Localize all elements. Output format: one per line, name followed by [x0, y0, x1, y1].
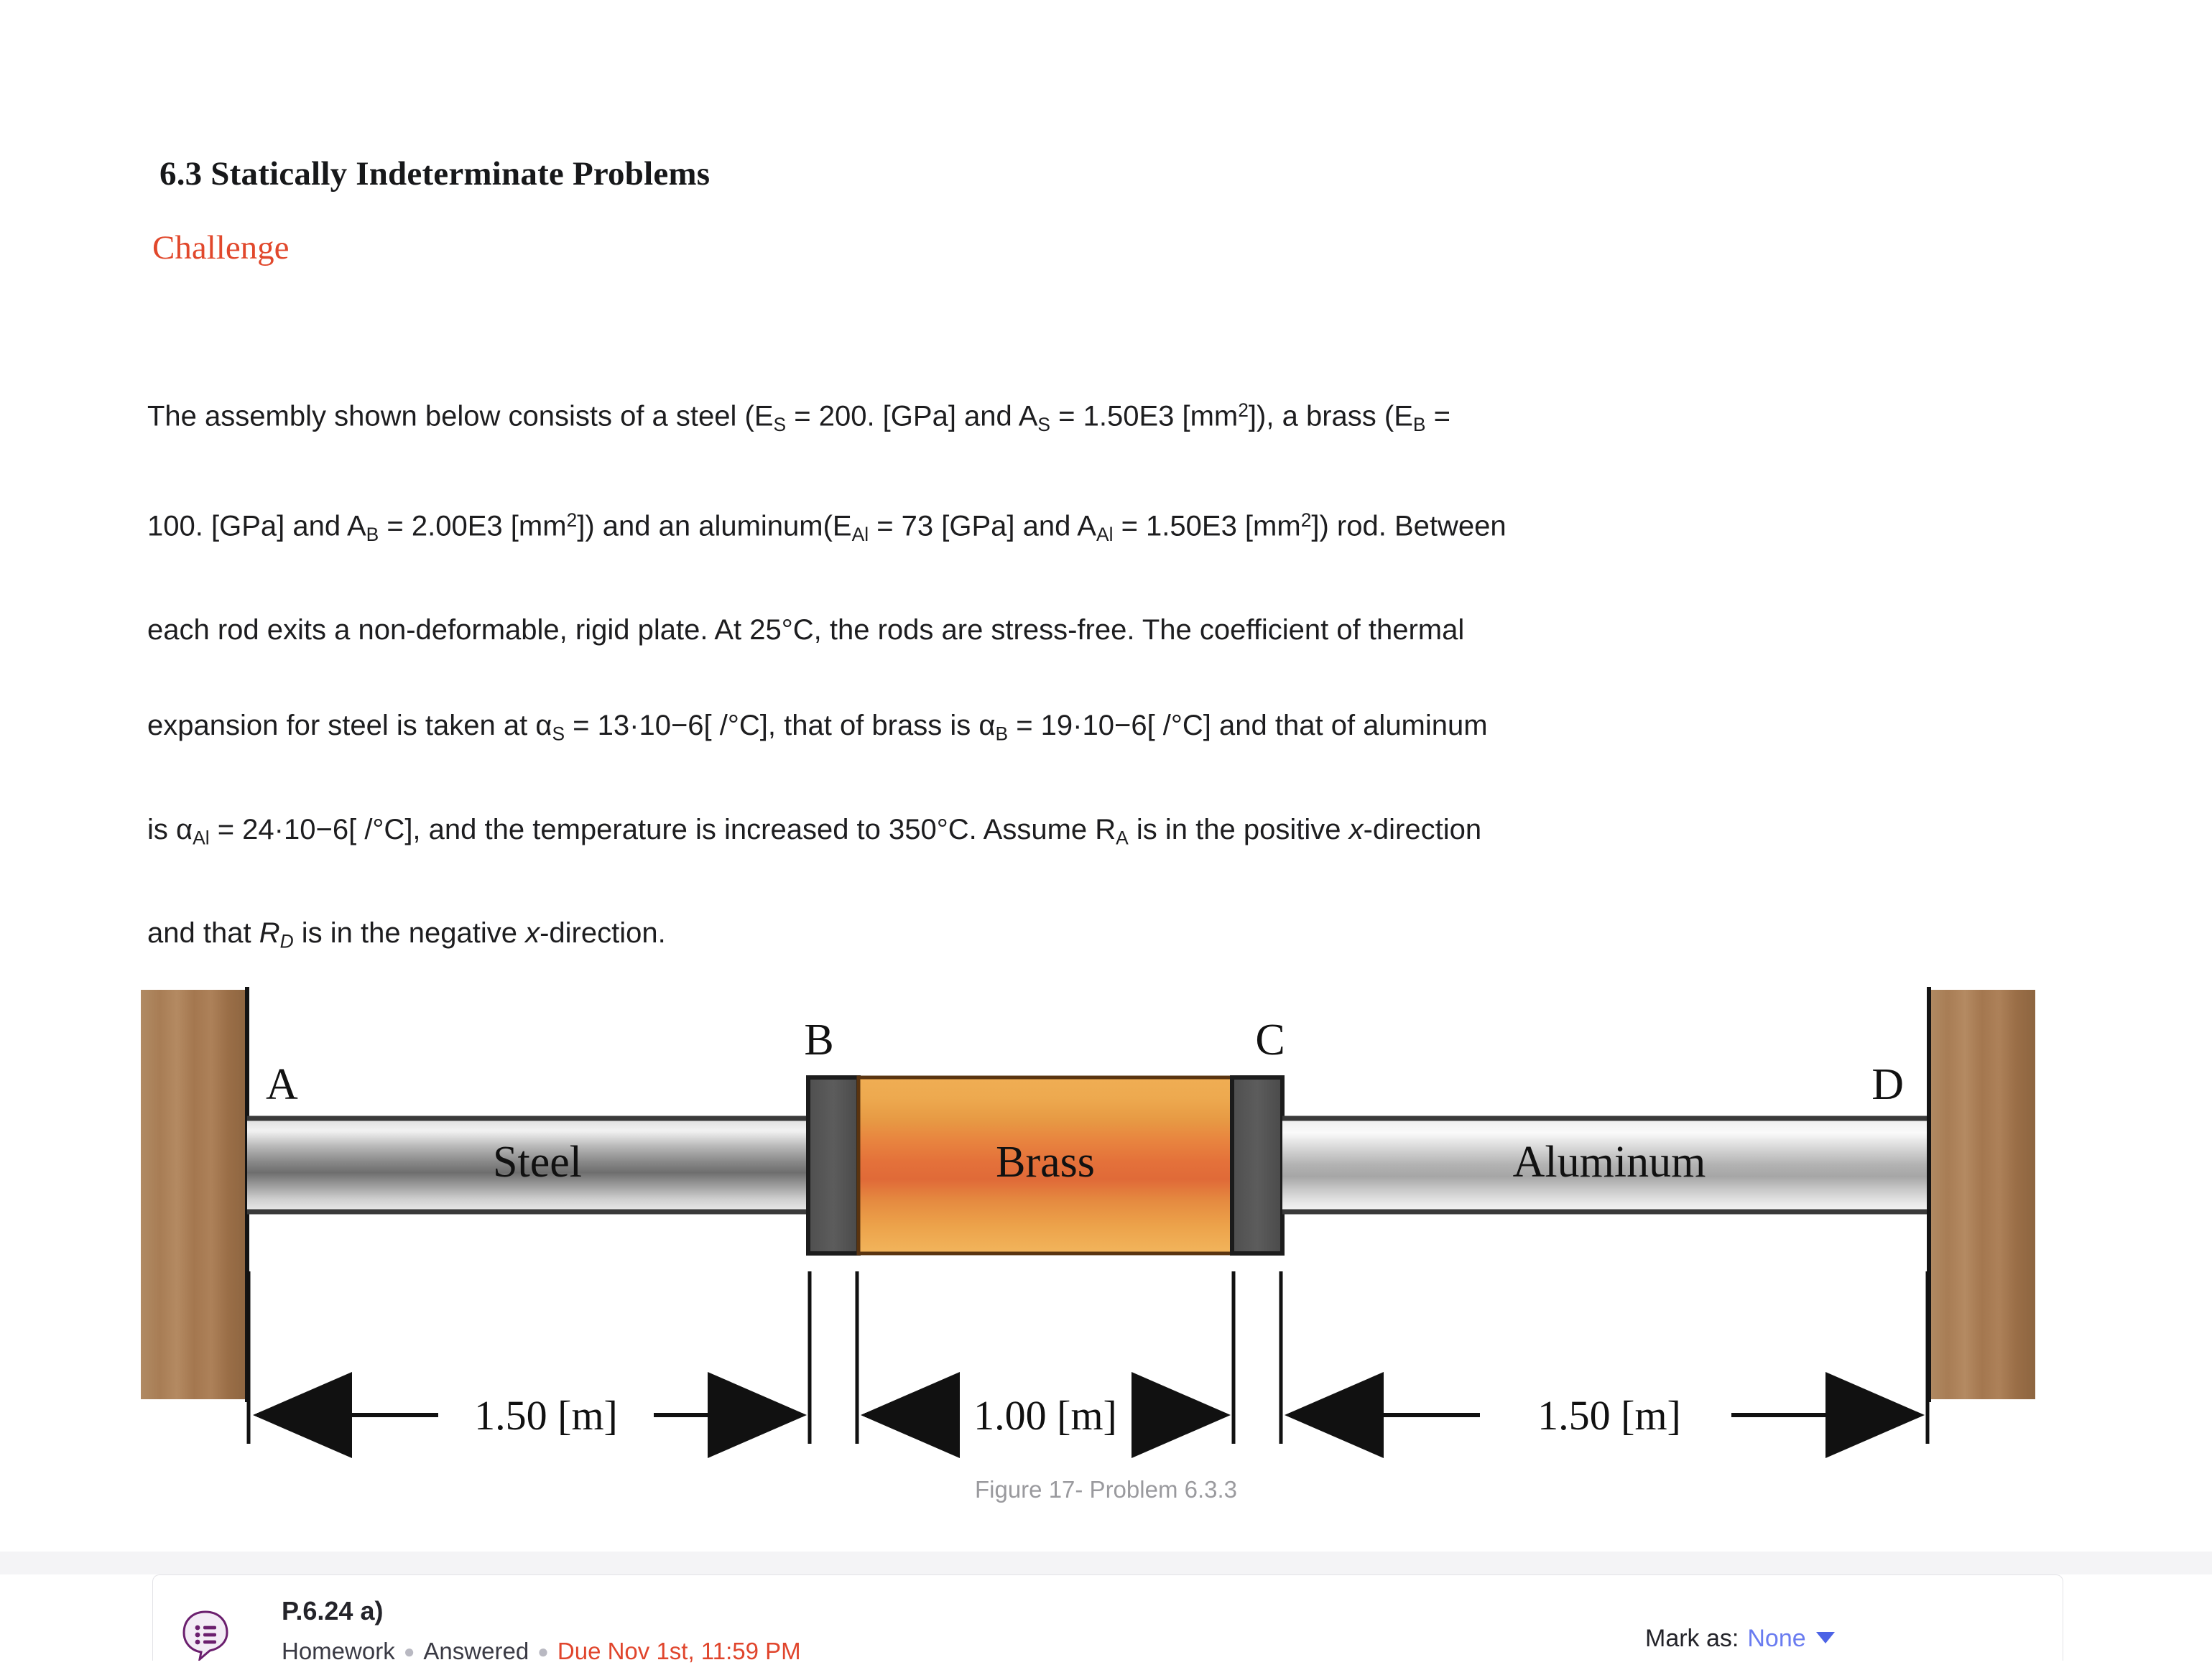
statement-line-5: is αAl = 24·10−6[ /°C], and the temperat… [147, 782, 2012, 886]
rigid-plate-c [1232, 1077, 1282, 1253]
subscript-b: B [366, 524, 379, 545]
subscript-al: Al [1096, 524, 1113, 545]
dimension-left-label: 1.50 [m] [474, 1392, 618, 1439]
subscript-s: S [774, 414, 787, 435]
assignment-type: Homework [282, 1638, 395, 1664]
superscript-2: 2 [1301, 509, 1312, 531]
assignment-title: P.6.24 a) [282, 1596, 383, 1626]
statement-line-4: expansion for steel is taken at αS = 13·… [147, 678, 2012, 782]
statement-line-2: 100. [GPa] and AB = 2.00E3 [mm2]) and an… [147, 473, 2012, 583]
rigid-plate-b [808, 1077, 859, 1253]
challenge-subtitle: Challenge [152, 228, 290, 267]
node-label-a: A [266, 1060, 298, 1109]
statement-line-1: The assembly shown below consists of a s… [147, 363, 2012, 473]
subscript-b: B [995, 723, 1008, 745]
page-divider-strip [0, 1552, 2212, 1574]
right-wall-support [1929, 987, 2035, 1402]
subscript-a: A [1116, 827, 1129, 848]
dimension-left: 1.50 [m] [257, 1392, 802, 1439]
dimension-right: 1.50 [m] [1289, 1392, 1920, 1439]
subscript-b: B [1413, 414, 1426, 435]
dimension-middle-label: 1.00 [m] [973, 1392, 1117, 1439]
page-title: 6.3 Statically Indeterminate Problems [159, 154, 710, 193]
assignment-meta: Homework●Answered●Due Nov 1st, 11:59 PM [282, 1638, 801, 1665]
left-wall-support [141, 987, 247, 1402]
axis-x: x [525, 917, 540, 949]
node-label-d: D [1871, 1060, 1904, 1109]
superscript-2: 2 [567, 509, 578, 531]
steel-label: Steel [493, 1138, 582, 1187]
dimension-right-label: 1.50 [m] [1537, 1392, 1681, 1439]
figure-caption: Figure 17- Problem 6.3.3 [0, 1476, 2212, 1503]
subscript-s: S [552, 723, 565, 745]
dimension-middle: 1.00 [m] [865, 1392, 1226, 1439]
superscript-2: 2 [1238, 399, 1249, 421]
reaction-r: R [259, 917, 280, 949]
axis-x: x [1349, 814, 1364, 845]
assignment-list-icon [180, 1609, 231, 1661]
meta-separator: ● [395, 1641, 424, 1662]
meta-separator: ● [529, 1641, 557, 1662]
brass-label: Brass [996, 1138, 1095, 1187]
node-label-c: C [1255, 1016, 1285, 1065]
aluminum-label: Aluminum [1513, 1138, 1706, 1187]
statement-line-6: and that RD is in the negative x-directi… [147, 886, 2012, 989]
subscript-al: Al [852, 524, 869, 545]
mark-as-label: Mark as: [1645, 1625, 1739, 1652]
subscript-al: Al [193, 827, 209, 848]
mark-as-value[interactable]: None [1739, 1625, 1805, 1652]
subscript-s: S [1037, 414, 1050, 435]
assignment-status: Answered [423, 1638, 529, 1664]
problem-statement: The assembly shown below consists of a s… [147, 363, 2012, 989]
mark-as-control[interactable]: Mark as:None [1645, 1625, 1835, 1653]
statement-line-3: each rod exits a non-deformable, rigid p… [147, 583, 2012, 678]
assembly-diagram: Steel Brass Aluminum A B C D 1.50 [m] [129, 984, 2083, 1480]
subscript-d: D [280, 930, 294, 952]
assignment-due-date: Due Nov 1st, 11:59 PM [557, 1638, 801, 1664]
chevron-down-icon[interactable] [1816, 1632, 1835, 1643]
node-label-b: B [804, 1016, 833, 1065]
